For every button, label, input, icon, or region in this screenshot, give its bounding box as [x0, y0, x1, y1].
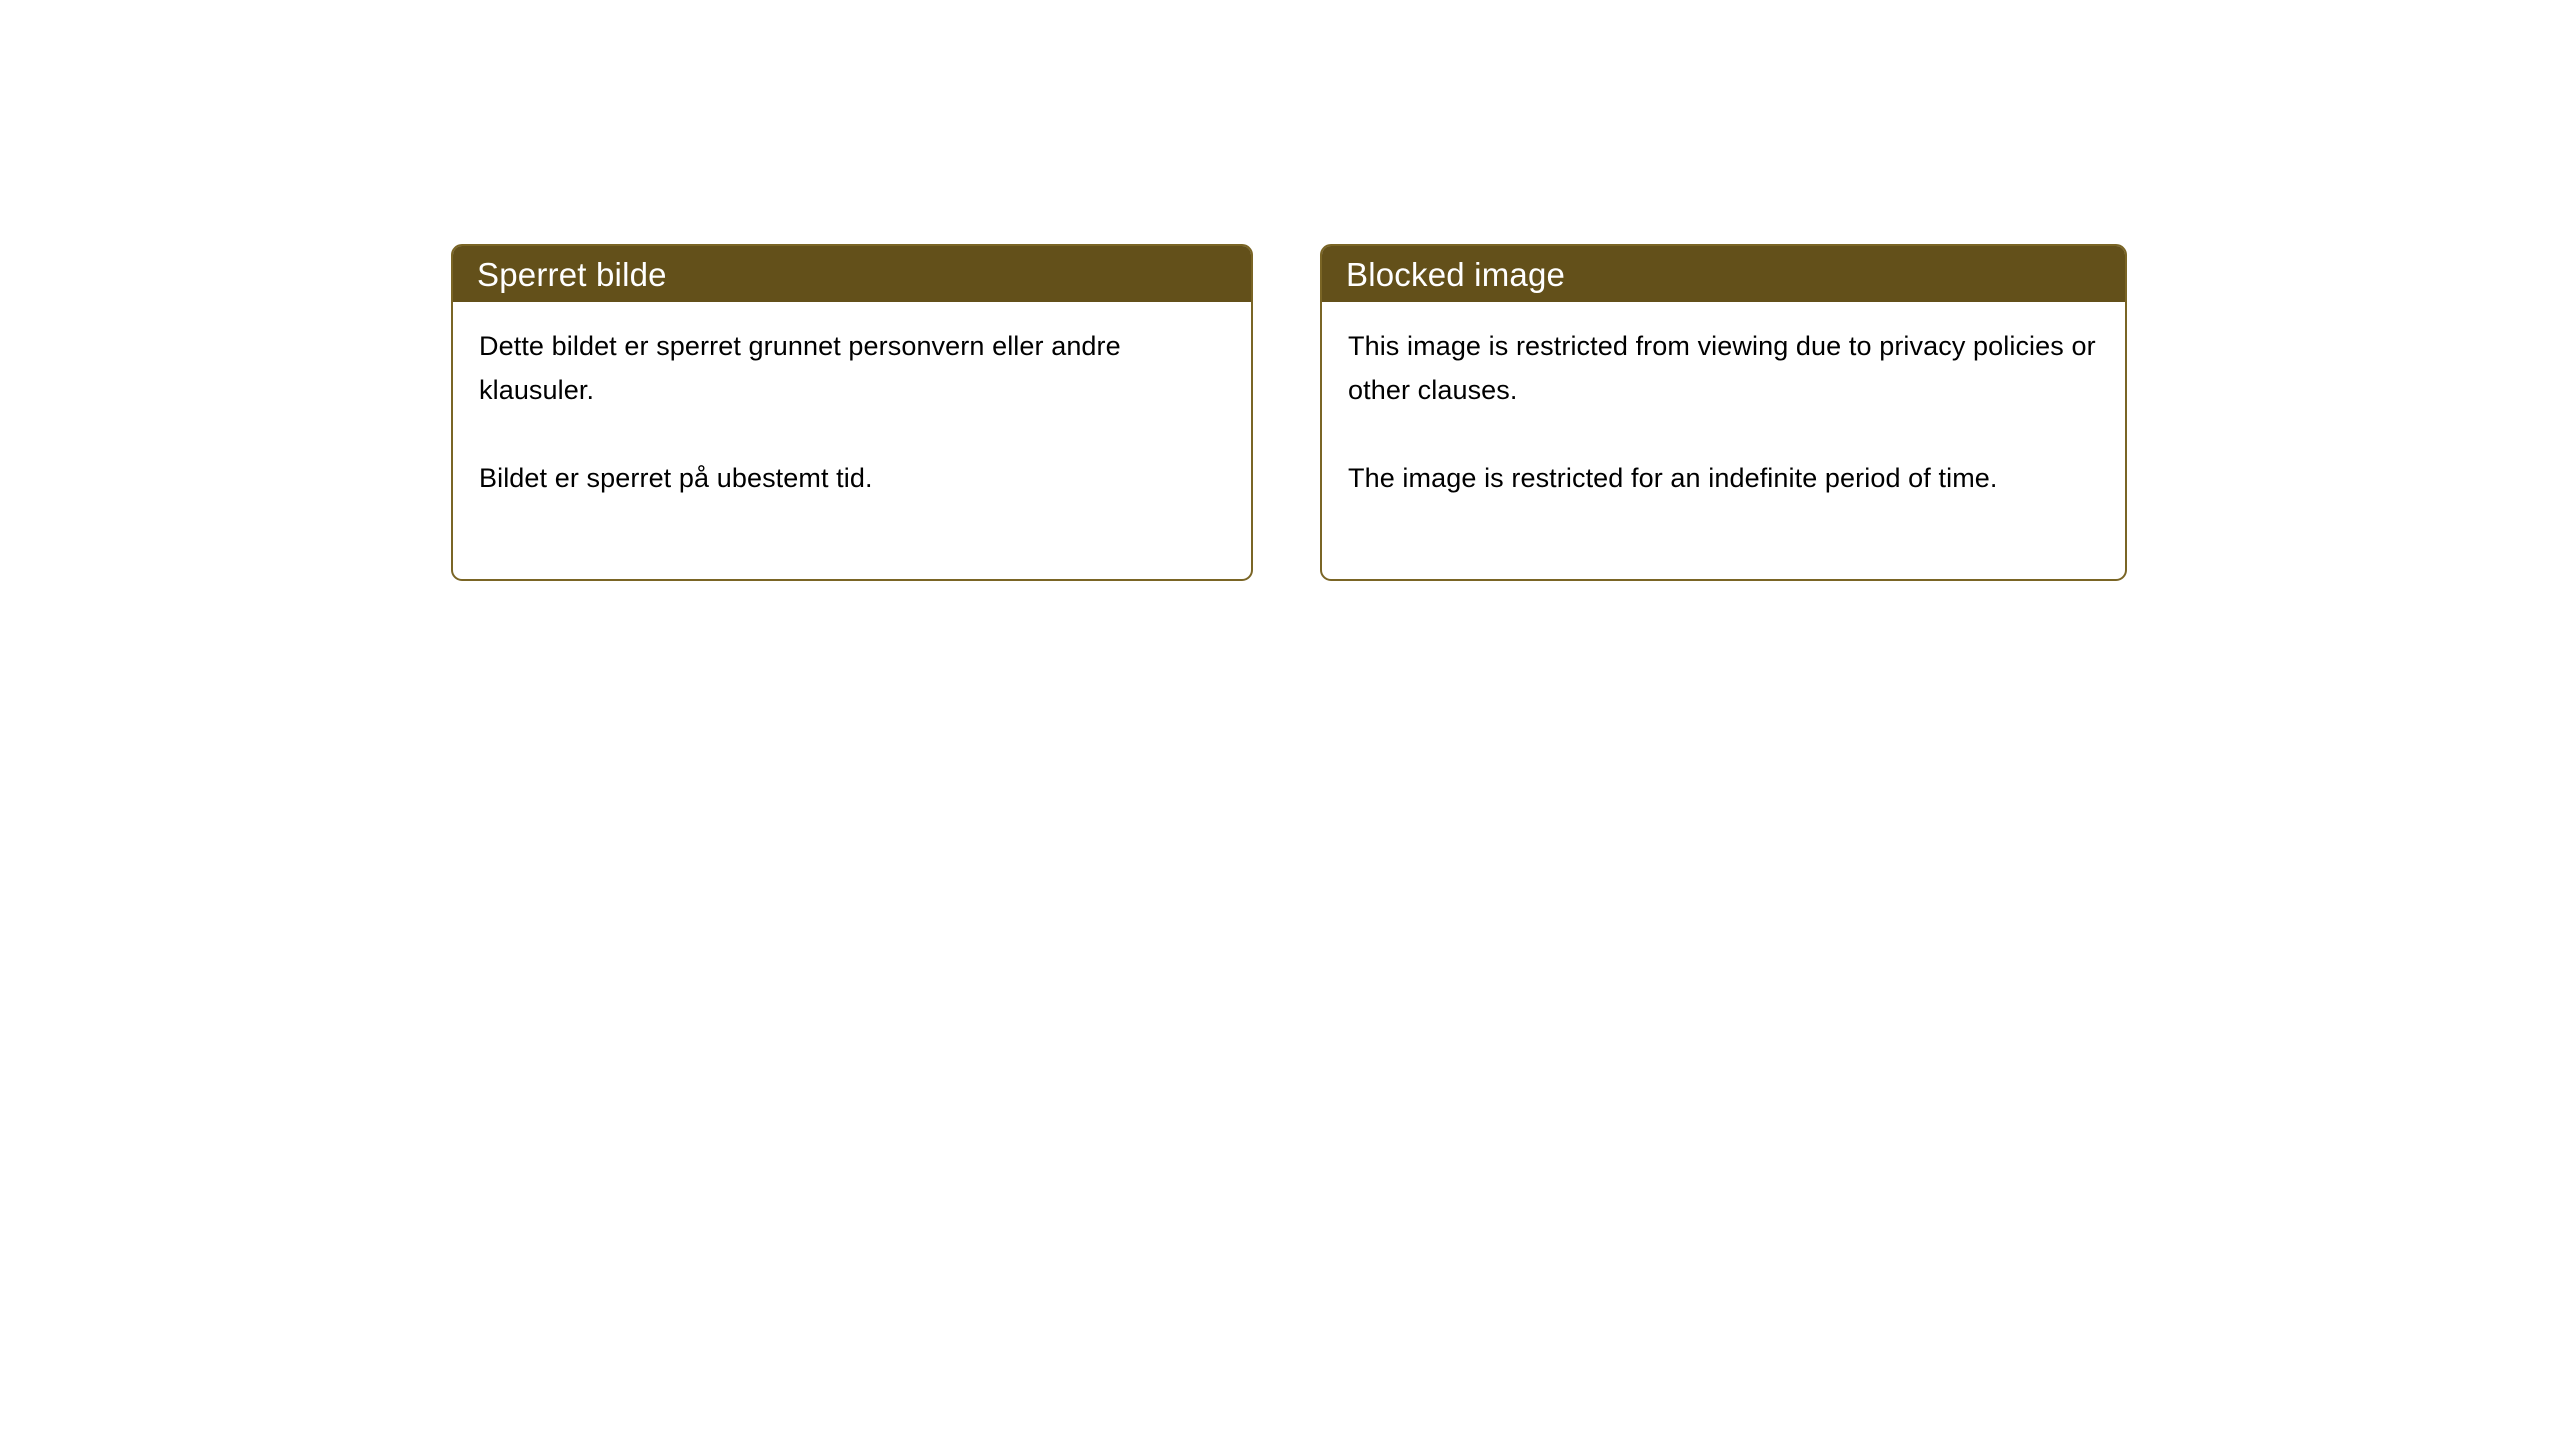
blocked-image-notice-card-norwegian: Sperret bilde Dette bildet er sperret gr…: [451, 244, 1253, 581]
page-canvas: Sperret bilde Dette bildet er sperret gr…: [0, 0, 2560, 1440]
card-body-norwegian: Dette bildet er sperret grunnet personve…: [453, 302, 1251, 500]
card-paragraph-reason-norwegian: Dette bildet er sperret grunnet personve…: [479, 324, 1225, 412]
card-paragraph-duration-norwegian: Bildet er sperret på ubestemt tid.: [479, 456, 1225, 500]
card-title-norwegian: Sperret bilde: [477, 258, 667, 291]
card-header-norwegian: Sperret bilde: [453, 246, 1251, 302]
card-paragraph-duration-english: The image is restricted for an indefinit…: [1348, 456, 2099, 500]
card-paragraph-reason-english: This image is restricted from viewing du…: [1348, 324, 2099, 412]
card-header-english: Blocked image: [1322, 246, 2125, 302]
card-title-english: Blocked image: [1346, 258, 1565, 291]
blocked-image-notice-card-english: Blocked image This image is restricted f…: [1320, 244, 2127, 581]
card-body-english: This image is restricted from viewing du…: [1322, 302, 2125, 500]
